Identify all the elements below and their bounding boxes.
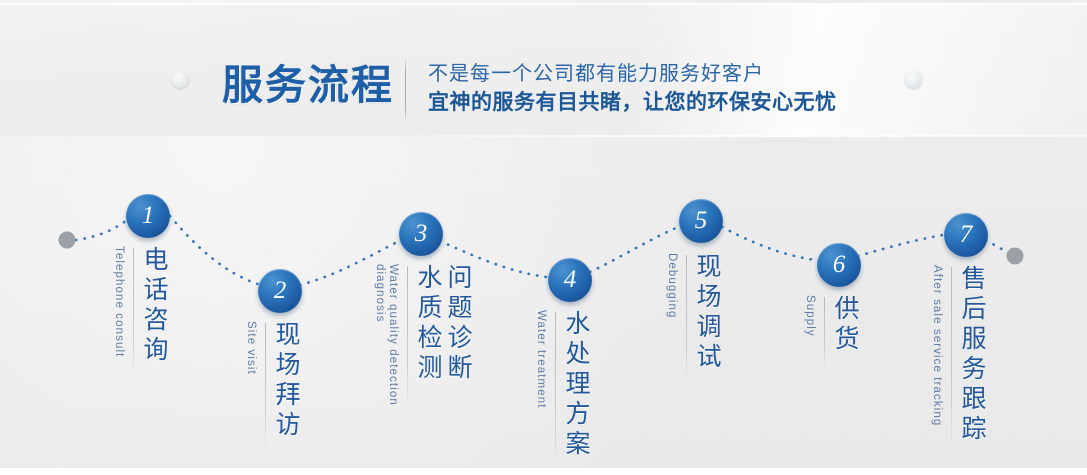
bottom-edge-strip bbox=[0, 468, 1087, 475]
step-rule-7 bbox=[951, 267, 952, 449]
step-cn-label-4: 水处理方案 bbox=[563, 310, 589, 460]
step-cn-label-7: 售后服务跟踪 bbox=[959, 265, 985, 445]
step-cn-label-2: 现场拜访 bbox=[273, 321, 299, 441]
step-number-badge-7: 7 bbox=[944, 213, 988, 257]
step-number-badge-3: 3 bbox=[399, 212, 443, 256]
step-cn-label-5: 现场调试 bbox=[694, 253, 720, 373]
step-number-badge-2: 2 bbox=[258, 269, 302, 313]
step-cn-label-1: 电话咨询 bbox=[141, 246, 167, 366]
step-rule-4 bbox=[555, 312, 556, 464]
step-number-badge-5: 5 bbox=[679, 199, 723, 243]
step-number-badge-6: 6 bbox=[817, 243, 861, 287]
step-rule-5 bbox=[686, 255, 687, 383]
step-number-badge-1: 1 bbox=[126, 194, 170, 238]
step-cn-label-6: 供货 bbox=[832, 295, 858, 355]
step-cn-group-3: 问题诊断 水质检测 bbox=[415, 264, 471, 384]
step-cn-label-3: 问题诊断 bbox=[445, 264, 471, 384]
step-cn-label-3-secondary: 水质检测 bbox=[415, 264, 441, 384]
step-number-badge-4: 4 bbox=[548, 258, 592, 302]
process-steps: 1 Telephone consult 电话咨询 2 Site visit 现场… bbox=[0, 0, 1087, 475]
step-rule-3 bbox=[407, 266, 408, 406]
service-process-graphic: 服务流程 不是每一个公司都有能力服务好客户 宜神的服务有目共睹，让您的环保安心无… bbox=[0, 0, 1087, 475]
step-rule-2 bbox=[265, 323, 266, 451]
step-rule-1 bbox=[133, 248, 134, 376]
step-rule-6 bbox=[824, 297, 825, 367]
